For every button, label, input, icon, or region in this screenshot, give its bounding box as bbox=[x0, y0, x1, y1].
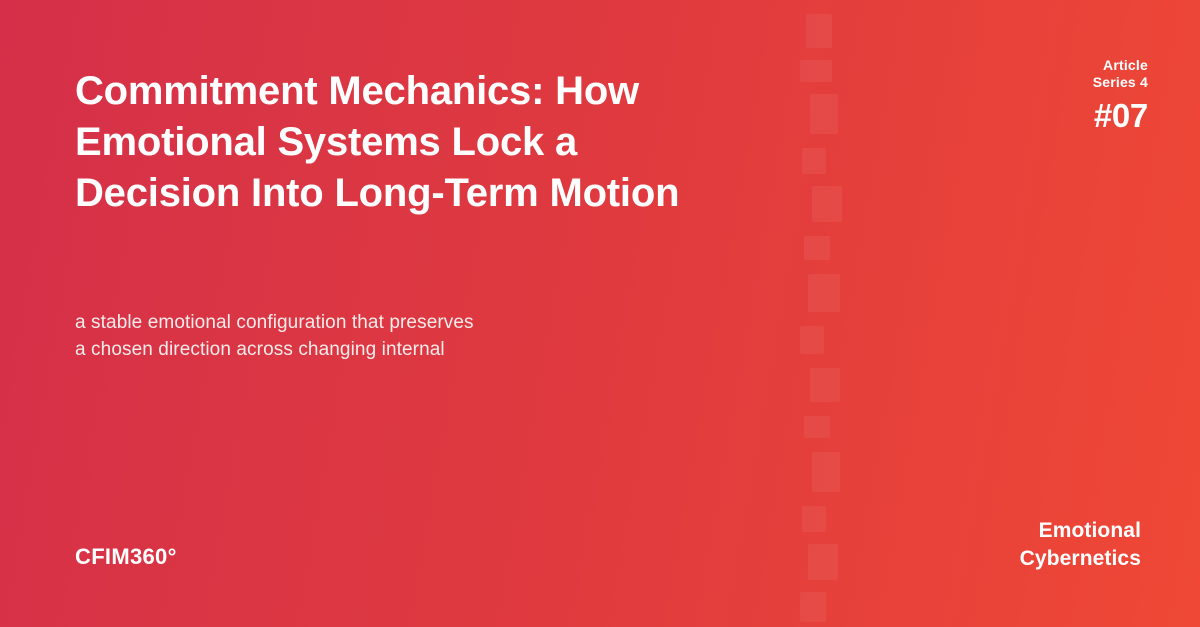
article-number: #07 bbox=[928, 98, 1148, 134]
page-title: Commitment Mechanics: How Emotional Syst… bbox=[75, 66, 695, 219]
article-badge: Article Series 4 #07 bbox=[928, 57, 1148, 134]
article-series-label: Article Series 4 bbox=[928, 57, 1148, 91]
decorative-watermark-texture bbox=[798, 0, 846, 627]
brand-logo: CFIM360° bbox=[75, 544, 177, 570]
page-subtitle: a stable emotional configuration that pr… bbox=[75, 309, 695, 363]
article-cover-card: Commitment Mechanics: How Emotional Syst… bbox=[0, 0, 1200, 627]
brand-tagline: Emotional Cybernetics bbox=[1020, 517, 1141, 573]
